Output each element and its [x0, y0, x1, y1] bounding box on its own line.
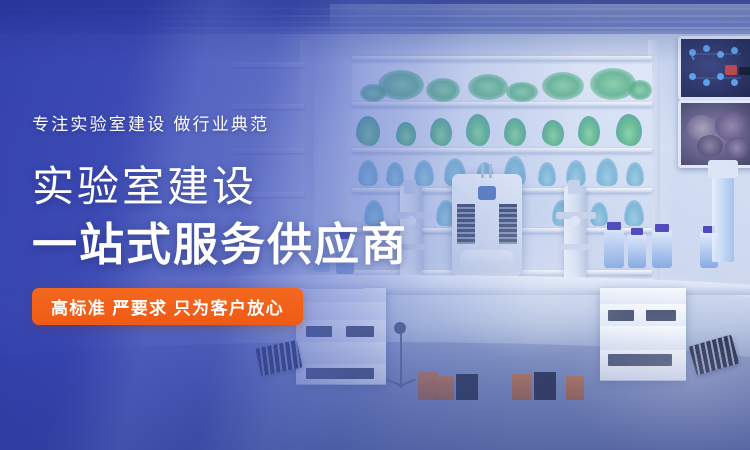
banner-headline-line2: 一站式服务供应商: [32, 222, 408, 267]
banner-headline-line1: 实验室建设: [32, 166, 257, 208]
lab-service-banner: 专注实验室建设 做行业典范 实验室建设 一站式服务供应商 高标准 严要求 只为客…: [0, 0, 750, 450]
banner-promise-badge[interactable]: 高标准 严要求 只为客户放心: [32, 288, 303, 325]
banner-text-block: 专注实验室建设 做行业典范 实验室建设 一站式服务供应商 高标准 严要求 只为客…: [32, 0, 452, 450]
banner-tagline: 专注实验室建设 做行业典范: [32, 110, 269, 135]
